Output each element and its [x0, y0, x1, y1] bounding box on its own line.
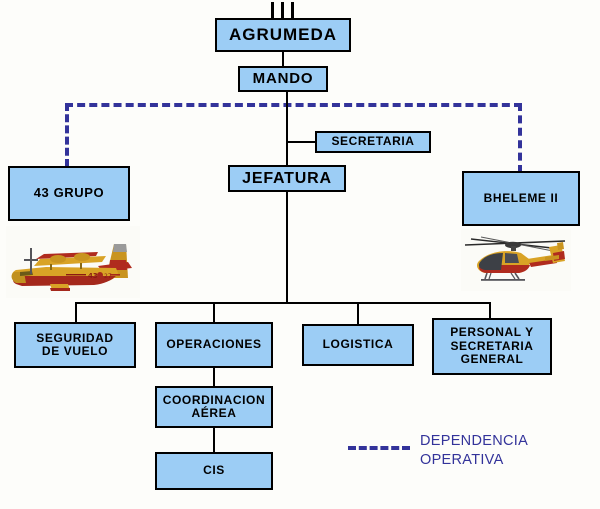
connector-spine-secretaria [286, 141, 316, 143]
helicopter-image [461, 229, 571, 291]
node-secretaria[interactable]: SECRETARIA [315, 131, 431, 153]
antenna-tick-icon [291, 2, 294, 18]
legend-label: DEPENDENCIA OPERATIVA [420, 432, 528, 470]
node-logistica[interactable]: LOGISTICA [302, 324, 414, 366]
node-cis[interactable]: CIS [155, 452, 273, 490]
node-seguridad-de-vuelo[interactable]: SEGURIDAD DE VUELO [14, 322, 136, 368]
node-personal-y-secretaria-general-label: PERSONAL Y SECRETARIA GENERAL [434, 326, 550, 366]
node-operaciones-label: OPERACIONES [157, 338, 271, 351]
node-personal-y-secretaria-general[interactable]: PERSONAL Y SECRETARIA GENERAL [432, 318, 552, 375]
antenna-tick-icon [271, 2, 274, 18]
node-43-grupo[interactable]: 43 GRUPO [8, 166, 130, 221]
connector-bus-to-logistica [357, 302, 359, 325]
node-mando[interactable]: MANDO [238, 66, 328, 92]
connector-bus-to-operaciones [213, 302, 215, 323]
node-coordinacion-aerea-label: COORDINACION AÉREA [157, 394, 271, 421]
node-jefatura[interactable]: JEFATURA [228, 165, 346, 192]
organization-chart: AGRUMEDA MANDO SECRETARIA JEFATURA 43 GR… [0, 0, 600, 509]
connector-mando-jefatura-spine [286, 92, 288, 303]
connector-agrumeda-mando [282, 52, 284, 66]
node-cis-label: CIS [157, 464, 271, 477]
node-agrumeda-label: AGRUMEDA [217, 25, 349, 44]
connector-bus-to-seguridad [75, 302, 77, 323]
node-mando-label: MANDO [240, 71, 326, 88]
node-agrumeda[interactable]: AGRUMEDA [215, 18, 351, 52]
connector-coordinacion-cis [213, 428, 215, 453]
legend-dashed-line-swatch [348, 446, 410, 450]
node-bheleme-ii-label: BHELEME II [464, 192, 578, 205]
node-operaciones[interactable]: OPERACIONES [155, 322, 273, 368]
airplane-image: 43 27 [6, 226, 140, 298]
node-secretaria-label: SECRETARIA [317, 135, 429, 148]
svg-text:43: 43 [88, 272, 98, 280]
antenna-tick-icon [281, 2, 284, 18]
connector-operaciones-coordinacion [213, 368, 215, 387]
legend: DEPENDENCIA OPERATIVA [348, 432, 528, 470]
connector-bus-to-personal [489, 302, 491, 319]
dependency-line-horizontal [65, 103, 522, 107]
node-bheleme-ii[interactable]: BHELEME II [462, 171, 580, 226]
connector-bus-horizontal [75, 302, 491, 304]
dependency-line-to-bheleme [518, 103, 522, 173]
node-coordinacion-aerea[interactable]: COORDINACION AÉREA [155, 386, 273, 428]
node-jefatura-label: JEFATURA [230, 170, 344, 188]
dependency-line-to-43-grupo [65, 103, 69, 167]
node-seguridad-de-vuelo-label: SEGURIDAD DE VUELO [16, 332, 134, 359]
node-logistica-label: LOGISTICA [304, 338, 412, 351]
node-43-grupo-label: 43 GRUPO [10, 186, 128, 201]
